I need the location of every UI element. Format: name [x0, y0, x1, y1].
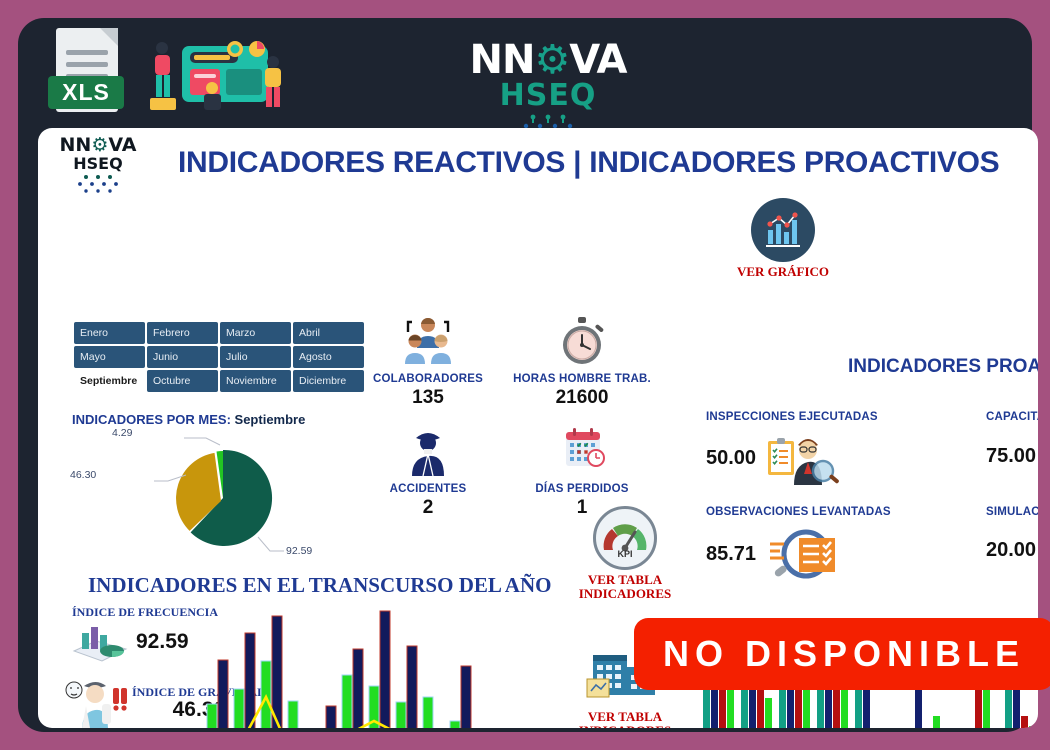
month-selector[interactable]: Enero Febrero Marzo Abril Mayo Junio Jul… — [74, 322, 364, 392]
proactive-observaciones-label: OBSERVACIONES LEVANTADAS — [706, 506, 926, 518]
month-button-abril[interactable]: Abril — [293, 322, 364, 344]
brand-nnova-head: NN — [469, 37, 534, 83]
annual-reactive-bar-chart: Enero Febrero Marzo Abril Mayo Junio Jul… — [193, 608, 543, 728]
no-disponible-banner: NO DISPONIBLE — [634, 618, 1050, 690]
pie-chart-indicadores-mes: 4.29 46.30 92.59 — [158, 433, 288, 563]
sheet-brand-tail: VA — [108, 134, 136, 156]
proactive-capacitaciones-value: 75.00 — [986, 445, 1036, 468]
ver-grafico-button[interactable]: VER GRÁFICO — [724, 198, 842, 279]
year-section-title: INDICADORES EN EL TRANSCURSO DEL AÑO — [88, 573, 551, 598]
index-frecuencia-value: 92.59 — [136, 630, 189, 654]
pie-caption-month: Septiembre — [235, 412, 306, 427]
proactive-inspecciones-label: INSPECCIONES EJECUTADAS — [706, 411, 926, 423]
pie-label-4-29: 4.29 — [112, 427, 132, 439]
kpi-horas-hombre-value: 21600 — [512, 387, 652, 409]
month-button-marzo[interactable]: Marzo — [220, 322, 291, 344]
3d-chart-icon — [72, 621, 128, 663]
month-button-septiembre[interactable]: Septiembre — [74, 370, 145, 392]
ver-tabla-indicadores-kpi-button[interactable]: KPI VER TABLA INDICADORES — [566, 506, 684, 601]
pie-caption: INDICADORES POR MES: Septiembre — [72, 412, 305, 427]
brand-nnova-tail: VA — [569, 37, 626, 83]
proactive-capacitaciones-label: CAPACITACIONES EJECUTADAS — [986, 411, 1038, 423]
proactive-simulacros-value: 20.00 — [986, 539, 1036, 562]
month-button-julio[interactable]: Julio — [220, 346, 291, 368]
dashboard-frame: XLS NN⚙VA HSEQ — [18, 18, 1032, 732]
top-banner: XLS NN⚙VA HSEQ — [18, 18, 1032, 122]
kpi-accidentes: ACCIDENTES 2 — [358, 424, 498, 519]
kpi-colaboradores-label: COLABORADORES — [358, 373, 498, 385]
stopwatch-icon — [552, 314, 612, 368]
month-button-febrero[interactable]: Febrero — [147, 322, 218, 344]
pie-label-46-30: 46.30 — [70, 469, 96, 481]
proactive-capacitaciones: CAPACITACIONES EJECUTADAS 75.00 — [986, 411, 1038, 483]
xls-file-icon: XLS — [48, 26, 126, 118]
kpi-dias-perdidos: DÍAS PERDIDOS 1 — [512, 424, 652, 519]
proactive-inspecciones: INSPECCIONES EJECUTADAS 50.00 — [706, 411, 926, 487]
dot-pattern-icon-small — [70, 174, 126, 196]
pie-label-92-59: 92.59 — [286, 545, 312, 557]
proactive-simulacros: SIMULACROS EJECUTADOS 20.00 — [986, 506, 1038, 576]
kpi-horas-hombre-label: HORAS HOMBRE TRAB. — [512, 373, 652, 385]
proactive-observaciones: OBSERVACIONES LEVANTADAS 85.71 — [706, 506, 926, 584]
kpi-dias-perdidos-label: DÍAS PERDIDOS — [512, 483, 652, 495]
proactive-observaciones-value: 85.71 — [706, 543, 756, 566]
svg-text:KPI: KPI — [617, 549, 632, 559]
month-button-mayo[interactable]: Mayo — [74, 346, 145, 368]
sheet-brand-hseq: HSEQ — [50, 155, 146, 173]
pie-caption-prefix: INDICADORES POR MES: — [72, 412, 231, 427]
brand-hseq: HSEQ — [468, 80, 628, 112]
gear-icon: ⚙ — [534, 40, 569, 80]
kpi-colaboradores: COLABORADORES 135 — [358, 314, 498, 409]
ver-tabla-datos-label: VER TABLA INDICADORES — [566, 710, 684, 728]
people-group-icon — [398, 314, 458, 368]
sheet-brand-head: NN — [60, 134, 92, 156]
team-illustration — [140, 36, 290, 116]
injured-person-icon — [60, 676, 130, 728]
kpi-colaboradores-value: 135 — [358, 387, 498, 409]
month-button-junio[interactable]: Junio — [147, 346, 218, 368]
checklist-magnifier-icon — [766, 524, 844, 584]
bar-chart-circle-icon — [751, 198, 815, 262]
kpi-gauge-icon: KPI — [593, 506, 657, 570]
month-button-noviembre[interactable]: Noviembre — [220, 370, 291, 392]
proactive-inspecciones-value: 50.00 — [706, 447, 756, 470]
month-button-agosto[interactable]: Agosto — [293, 346, 364, 368]
proactive-simulacros-label: SIMULACROS EJECUTADOS — [986, 506, 1038, 518]
injured-worker-icon — [398, 424, 458, 478]
page-title: INDICADORES REACTIVOS | INDICADORES PROA… — [178, 146, 1038, 180]
month-button-octubre[interactable]: Octubre — [147, 370, 218, 392]
inspector-clipboard-icon — [766, 429, 842, 487]
ver-grafico-label: VER GRÁFICO — [724, 265, 842, 279]
xls-badge-label: XLS — [48, 76, 124, 109]
kpi-accidentes-label: ACCIDENTES — [358, 483, 498, 495]
ver-tabla-kpi-label: VER TABLA INDICADORES — [566, 573, 684, 601]
kpi-accidentes-value: 2 — [358, 497, 498, 519]
month-button-diciembre[interactable]: Diciembre — [293, 370, 364, 392]
sheet-brand-logo: NN⚙VA HSEQ — [50, 136, 146, 201]
month-button-enero[interactable]: Enero — [74, 322, 145, 344]
gear-icon-small: ⚙ — [91, 134, 108, 156]
proactive-section-title: INDICADORES PROACTIVOS — [848, 356, 1038, 378]
kpi-horas-hombre: HORAS HOMBRE TRAB. 21600 — [512, 314, 652, 409]
calendar-clock-icon — [552, 424, 612, 478]
